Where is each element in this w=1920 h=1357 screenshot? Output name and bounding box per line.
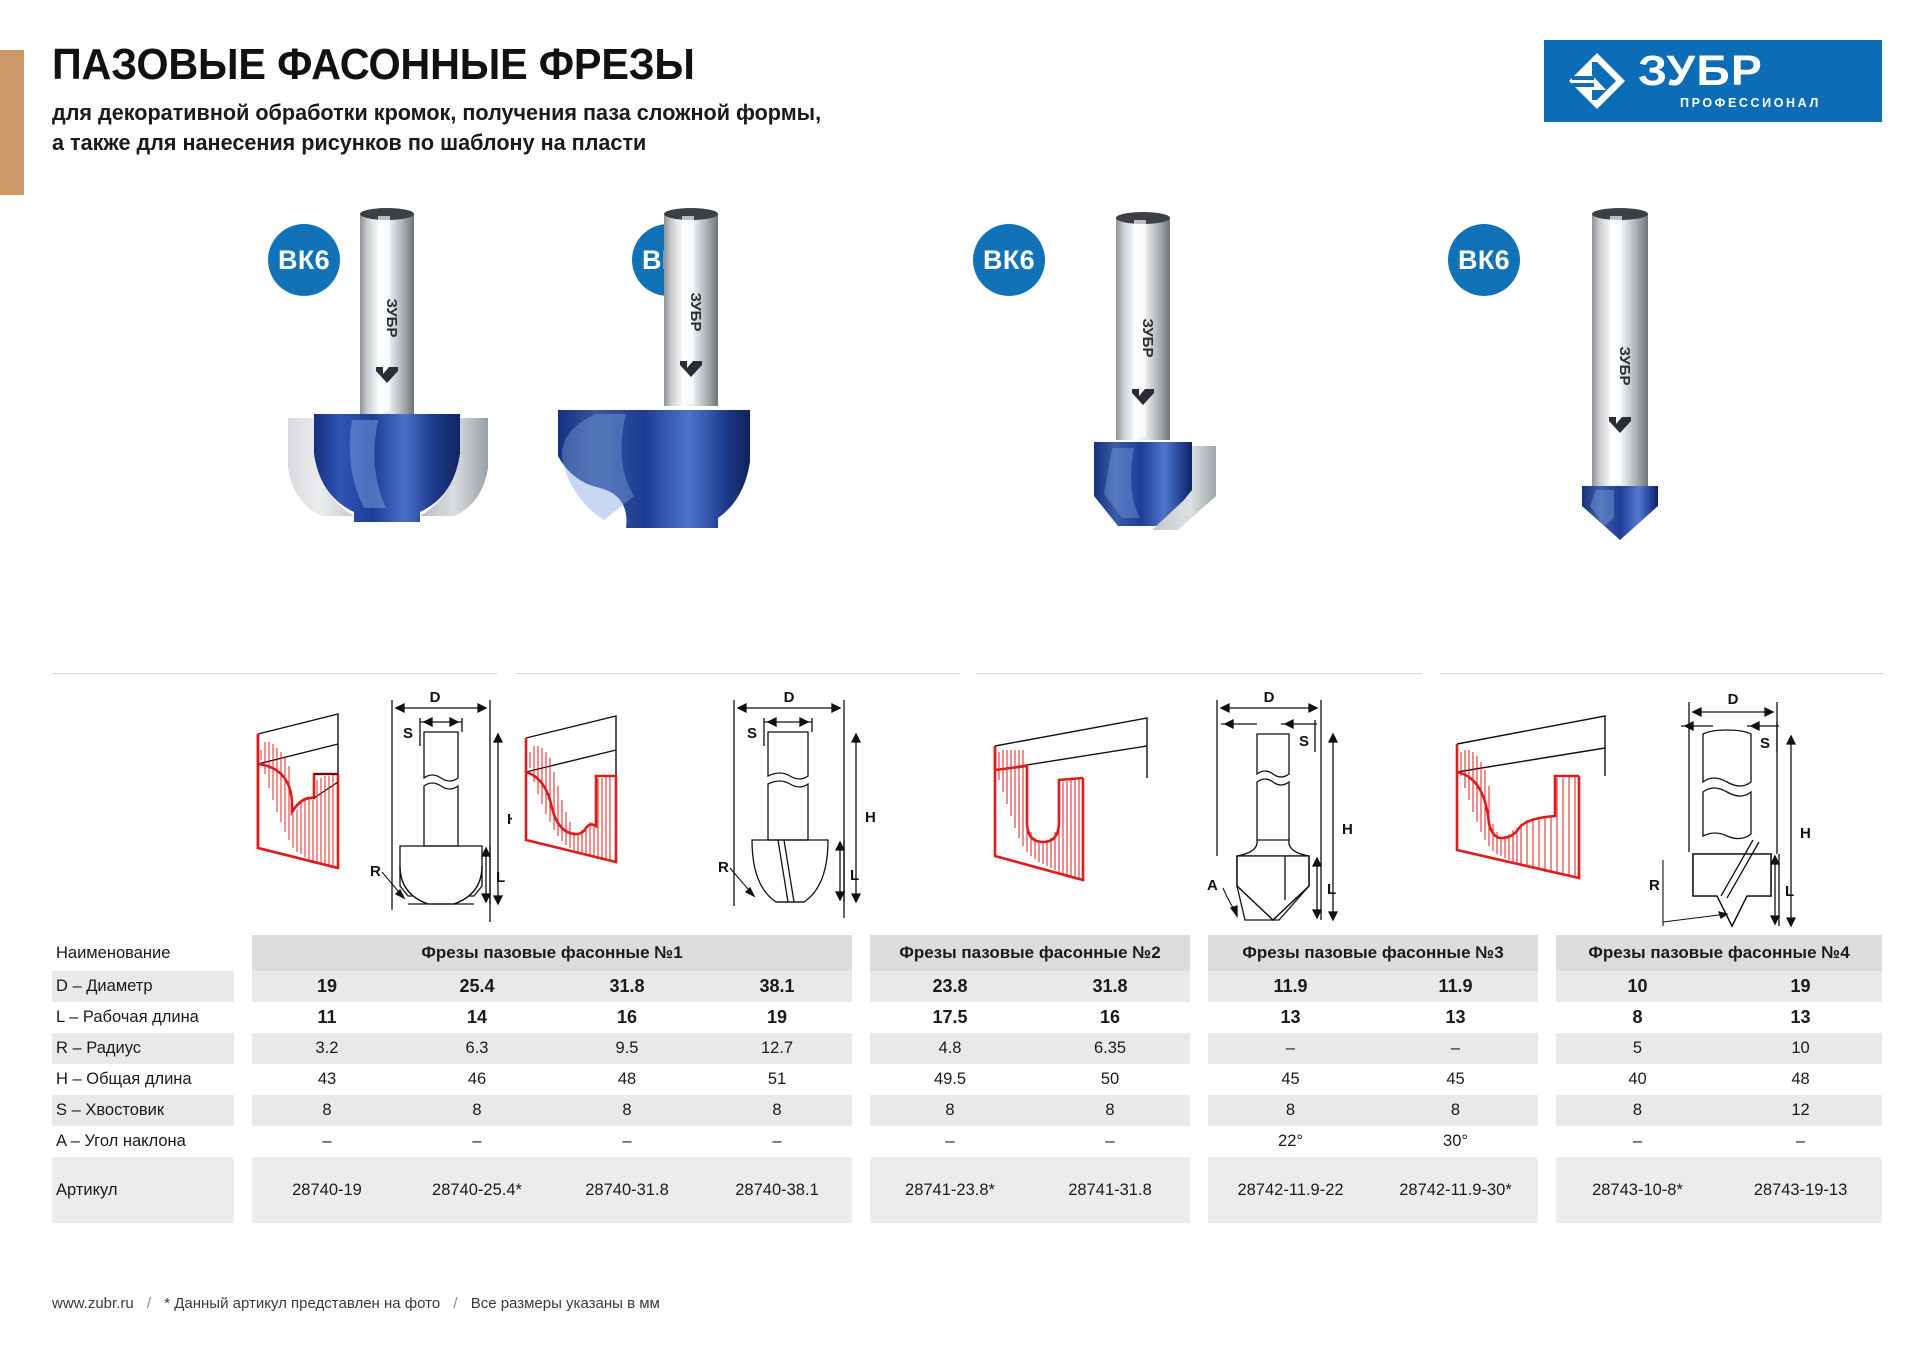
cell: 12 [1719, 1095, 1882, 1126]
cell: 19 [252, 971, 402, 1002]
dim-label-S: S [403, 725, 413, 742]
table-row: 11 14 16 19 [252, 1002, 852, 1033]
router-bit-illustration-4: ЗУБР [1538, 200, 1718, 550]
diagram-svg-3: D S H L A [969, 690, 1409, 935]
cell: 23.8 [870, 971, 1030, 1002]
table-row: 17.5 16 [870, 1002, 1190, 1033]
cell: 10 [1719, 1033, 1882, 1064]
cell: 14 [402, 1002, 552, 1033]
cell: 8 [702, 1095, 852, 1126]
footer-article-note: * Данный артикул представлен на фото [164, 1295, 440, 1312]
cell: 16 [1030, 1002, 1190, 1033]
logo-brand-text: ЗУБР [1638, 52, 1835, 92]
accent-bar [0, 50, 24, 195]
cell: 8 [402, 1095, 552, 1126]
article-cell: 28741-23.8* [870, 1157, 1030, 1223]
cell: – [1556, 1126, 1719, 1157]
cell: 30° [1373, 1126, 1538, 1157]
dim-label-H: H [1800, 825, 1811, 842]
divider-segment [515, 673, 960, 674]
article-cell: 28743-19-13 [1719, 1157, 1882, 1223]
table-group-4: Фрезы пазовые фасонные №4 10 19 8 13 5 1… [1556, 935, 1882, 1223]
cell: – [702, 1126, 852, 1157]
table-row: 8 12 [1556, 1095, 1882, 1126]
row-label-s: S – Хвостовик [52, 1095, 234, 1126]
article-cell: 28740-25.4* [402, 1157, 552, 1223]
cell: 19 [1719, 971, 1882, 1002]
row-label-a: A – Угол наклона [52, 1126, 234, 1157]
table-label-column: Наименование D – Диаметр L – Рабочая дли… [52, 935, 234, 1223]
badge-vk6-3: ВК6 [973, 224, 1045, 296]
table-row-articles: 28741-23.8* 28741-31.8 [870, 1157, 1190, 1223]
diagram-svg-1: D S H L R [52, 690, 512, 935]
footer-separator: / [147, 1295, 151, 1312]
cell: 48 [552, 1064, 702, 1095]
table-row: 45 45 [1208, 1064, 1538, 1095]
logo-tagline-text: ПРОФЕССИОНАЛ [1680, 96, 1821, 110]
cell: – [1373, 1033, 1538, 1064]
cell: 25.4 [402, 971, 552, 1002]
specifications-table: Наименование D – Диаметр L – Рабочая дли… [52, 935, 1884, 1223]
cell: 12.7 [702, 1033, 852, 1064]
cell: 8 [1030, 1095, 1190, 1126]
dim-label-D: D [430, 690, 441, 706]
technical-diagram-2: D S H L R [512, 690, 969, 935]
cell: 16 [552, 1002, 702, 1033]
table-row: – – [870, 1126, 1190, 1157]
cell: – [552, 1126, 702, 1157]
technical-diagram-1: D S H L R [52, 690, 512, 935]
cell: – [252, 1126, 402, 1157]
zubr-arrow-diamond-icon [1566, 50, 1628, 112]
table-row: 11.9 11.9 [1208, 971, 1538, 1002]
table-row-articles: 28743-10-8* 28743-19-13 [1556, 1157, 1882, 1223]
badge-vk6-4: ВК6 [1448, 224, 1520, 296]
cell: 10 [1556, 971, 1719, 1002]
cell: 19 [702, 1002, 852, 1033]
cell: 8 [1208, 1095, 1373, 1126]
row-label-article: Артикул [52, 1157, 234, 1223]
table-row: 49.5 50 [870, 1064, 1190, 1095]
cell: 50 [1030, 1064, 1190, 1095]
table-row: 10 19 [1556, 971, 1882, 1002]
section-divider [52, 673, 1884, 674]
cell: 40 [1556, 1064, 1719, 1095]
diagram-svg-2: D S H L R [512, 690, 952, 935]
cell: 51 [702, 1064, 852, 1095]
cell: 17.5 [870, 1002, 1030, 1033]
name-header-cell: Наименование [52, 935, 234, 971]
subtitle-line-2: а также для нанесения рисунков по шаблон… [52, 128, 1185, 158]
dim-label-A: A [1207, 877, 1218, 894]
page-title: ПАЗОВЫЕ ФАСОННЫЕ ФРЕЗЫ [52, 42, 1161, 88]
cell: – [402, 1126, 552, 1157]
table-row: 3.2 6.3 9.5 12.7 [252, 1033, 852, 1064]
table-group-1: Фрезы пазовые фасонные №1 19 25.4 31.8 3… [252, 935, 852, 1223]
cell: – [1208, 1033, 1373, 1064]
dim-label-S: S [1760, 735, 1770, 752]
cell: 8 [870, 1095, 1030, 1126]
shank-brand-text: ЗУБР [383, 299, 400, 338]
table-row: – – [1208, 1033, 1538, 1064]
cell: 45 [1373, 1064, 1538, 1095]
table-row: 8 13 [1556, 1002, 1882, 1033]
product-photo-4: ВК6 ЗУБР [1426, 200, 1884, 670]
table-row: – – – – [252, 1126, 852, 1157]
article-cell: 28742-11.9-22 [1208, 1157, 1373, 1223]
cell: 43 [252, 1064, 402, 1095]
group-header-4: Фрезы пазовые фасонные №4 [1556, 935, 1882, 971]
cell: 4.8 [870, 1033, 1030, 1064]
page-subtitle: для декоративной обработки кромок, получ… [52, 98, 1185, 158]
cell: 3.2 [252, 1033, 402, 1064]
dim-label-D: D [784, 690, 795, 706]
table-row: 8 8 8 8 [252, 1095, 852, 1126]
dim-label-S: S [747, 725, 757, 742]
cell: 13 [1208, 1002, 1373, 1033]
dim-label-R: R [1649, 877, 1660, 894]
cell: 45 [1208, 1064, 1373, 1095]
dim-label-L: L [1785, 883, 1794, 900]
dim-label-L: L [1327, 881, 1336, 898]
shank-brand-text: ЗУБР [687, 293, 704, 332]
router-bit-illustration-3: ЗУБР [1060, 200, 1240, 550]
cell: 8 [1373, 1095, 1538, 1126]
dim-label-S: S [1299, 733, 1309, 750]
cell: 31.8 [552, 971, 702, 1002]
cell: 13 [1719, 1002, 1882, 1033]
cell: 6.3 [402, 1033, 552, 1064]
cell: 5 [1556, 1033, 1719, 1064]
group-header-2: Фрезы пазовые фасонные №2 [870, 935, 1190, 971]
product-photo-1: ВК6 [52, 200, 510, 670]
article-cell: 28742-11.9-30* [1373, 1157, 1538, 1223]
page-header: ПАЗОВЫЕ ФАСОННЫЕ ФРЕЗЫ для декоративной … [52, 42, 1232, 158]
cell: 13 [1373, 1002, 1538, 1033]
cell: – [1719, 1126, 1882, 1157]
article-cell: 28740-19 [252, 1157, 402, 1223]
table-row: 8 8 [870, 1095, 1190, 1126]
cell: 8 [1556, 1002, 1719, 1033]
row-label-d: D – Диаметр [52, 971, 234, 1002]
dim-label-L: L [496, 869, 505, 886]
table-row: 4.8 6.35 [870, 1033, 1190, 1064]
badge-label: ВК6 [983, 245, 1035, 276]
article-cell: 28741-31.8 [1030, 1157, 1190, 1223]
article-cell: 28740-31.8 [552, 1157, 702, 1223]
dim-label-D: D [1264, 690, 1275, 706]
dim-label-R: R [370, 863, 381, 880]
dim-label-L: L [850, 867, 859, 884]
router-bit-illustration-1: ЗУБР [282, 200, 512, 550]
subtitle-line-1: для декоративной обработки кромок, получ… [52, 98, 1185, 128]
footer-website[interactable]: www.zubr.ru [52, 1295, 134, 1312]
divider-segment [52, 673, 497, 674]
cell: 11.9 [1208, 971, 1373, 1002]
cell: 31.8 [1030, 971, 1190, 1002]
cell: 11 [252, 1002, 402, 1033]
shank-brand-text: ЗУБР [1139, 319, 1156, 358]
cell: – [1030, 1126, 1190, 1157]
cell: 8 [1556, 1095, 1719, 1126]
article-cell: 28740-38.1 [702, 1157, 852, 1223]
group-header-3: Фрезы пазовые фасонные №3 [1208, 935, 1538, 971]
row-label-r: R – Радиус [52, 1033, 234, 1064]
zubr-logo: ЗУБР ПРОФЕССИОНАЛ [1544, 40, 1882, 122]
table-row: 40 48 [1556, 1064, 1882, 1095]
cell: 22° [1208, 1126, 1373, 1157]
cell: 11.9 [1373, 971, 1538, 1002]
table-row: 8 8 [1208, 1095, 1538, 1126]
technical-diagram-4: D S H L R [1427, 690, 1884, 935]
divider-segment [977, 673, 1422, 674]
table-row: 43 46 48 51 [252, 1064, 852, 1095]
dim-label-H: H [865, 809, 876, 826]
footer-separator: / [453, 1295, 457, 1312]
dim-label-R: R [718, 859, 729, 876]
dim-label-D: D [1727, 691, 1738, 708]
product-photo-strip: ВК6 [52, 200, 1884, 670]
diagram-svg-4: D S H L R [1427, 690, 1867, 935]
dim-label-H: H [1342, 821, 1353, 838]
cell: – [870, 1126, 1030, 1157]
group-header-1: Фрезы пазовые фасонные №1 [252, 935, 852, 971]
table-row: 13 13 [1208, 1002, 1538, 1033]
footer-units-note: Все размеры указаны в мм [471, 1295, 660, 1312]
article-cell: 28743-10-8* [1556, 1157, 1719, 1223]
cell: 8 [552, 1095, 702, 1126]
page-footer: www.zubr.ru / * Данный артикул представл… [52, 1295, 660, 1312]
product-photo-3: ВК6 [968, 200, 1426, 670]
cell: 38.1 [702, 971, 852, 1002]
product-photo-2: ВК6 ЗУБР [510, 200, 968, 670]
divider-segment [1440, 673, 1885, 674]
shank-brand-text: ЗУБР [1616, 347, 1633, 386]
cell: 9.5 [552, 1033, 702, 1064]
router-bit-illustration-2: ЗУБР [522, 200, 752, 550]
row-label-l: L – Рабочая длина [52, 1002, 234, 1033]
technical-diagram-strip: D S H L R [52, 690, 1884, 935]
cell: 8 [252, 1095, 402, 1126]
technical-diagram-3: D S H L A [969, 690, 1426, 935]
cell: 46 [402, 1064, 552, 1095]
table-group-2: Фрезы пазовые фасонные №2 23.8 31.8 17.5… [870, 935, 1190, 1223]
badge-label: ВК6 [1458, 245, 1510, 276]
cell: 6.35 [1030, 1033, 1190, 1064]
table-group-3: Фрезы пазовые фасонные №3 11.9 11.9 13 1… [1208, 935, 1538, 1223]
table-row-articles: 28740-19 28740-25.4* 28740-31.8 28740-38… [252, 1157, 852, 1223]
table-row: 23.8 31.8 [870, 971, 1190, 1002]
table-row: 22° 30° [1208, 1126, 1538, 1157]
table-row: – – [1556, 1126, 1882, 1157]
cell: 49.5 [870, 1064, 1030, 1095]
row-label-h: H – Общая длина [52, 1064, 234, 1095]
cell: 48 [1719, 1064, 1882, 1095]
table-row: 19 25.4 31.8 38.1 [252, 971, 852, 1002]
table-row-articles: 28742-11.9-22 28742-11.9-30* [1208, 1157, 1538, 1223]
table-row: 5 10 [1556, 1033, 1882, 1064]
